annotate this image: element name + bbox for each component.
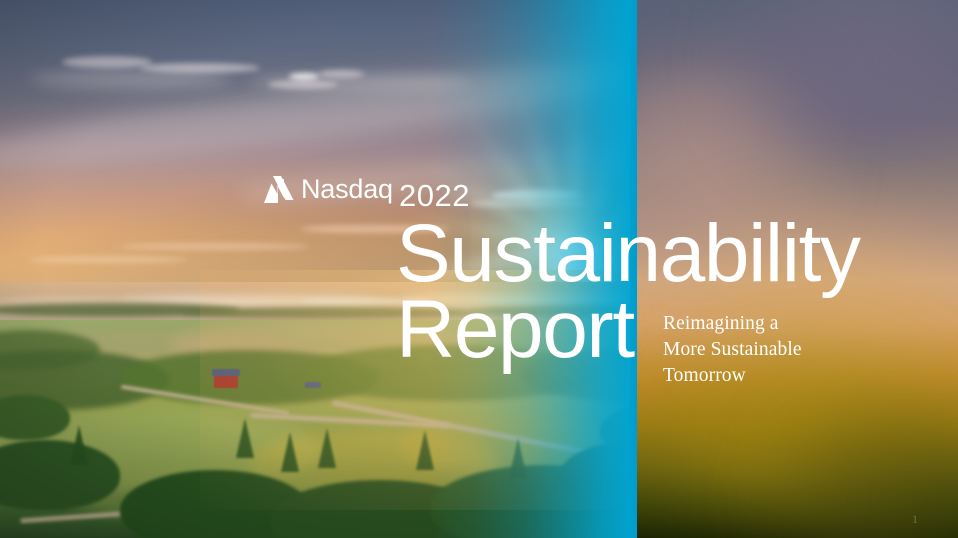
nasdaq-logo[interactable]: Nasdaq bbox=[264, 176, 393, 203]
cloud bbox=[289, 73, 319, 80]
nasdaq-wordmark: Nasdaq bbox=[301, 176, 393, 203]
barn-roof bbox=[305, 382, 321, 388]
cloud bbox=[62, 56, 152, 68]
conifer-tree bbox=[318, 428, 336, 468]
cloud-near-sun bbox=[28, 256, 188, 263]
subtitle-line-3: Tomorrow bbox=[663, 363, 893, 389]
page-subtitle: Reimagining a More Sustainable Tomorrow bbox=[663, 311, 893, 389]
barn-roof bbox=[212, 369, 240, 376]
barn bbox=[214, 375, 238, 388]
nasdaq-n-mark-icon bbox=[264, 176, 294, 203]
cloud-near-sun bbox=[120, 243, 310, 250]
report-year: 2022 bbox=[399, 180, 470, 211]
conifer-tree bbox=[416, 430, 434, 470]
conifer-tree bbox=[236, 418, 254, 458]
title-line-1: Sustainability bbox=[396, 216, 956, 292]
subtitle-line-2: More Sustainable bbox=[663, 337, 893, 363]
conifer-tree bbox=[281, 432, 299, 472]
sustainability-report-cover: Nasdaq 2022 Sustainability Report Reimag… bbox=[0, 0, 958, 538]
subtitle-line-1: Reimagining a bbox=[663, 311, 893, 337]
conifer-tree bbox=[70, 425, 88, 465]
conifer-tree bbox=[509, 438, 527, 478]
page-number: 1 bbox=[912, 512, 918, 527]
cloud bbox=[30, 70, 230, 88]
cloud bbox=[250, 74, 470, 90]
